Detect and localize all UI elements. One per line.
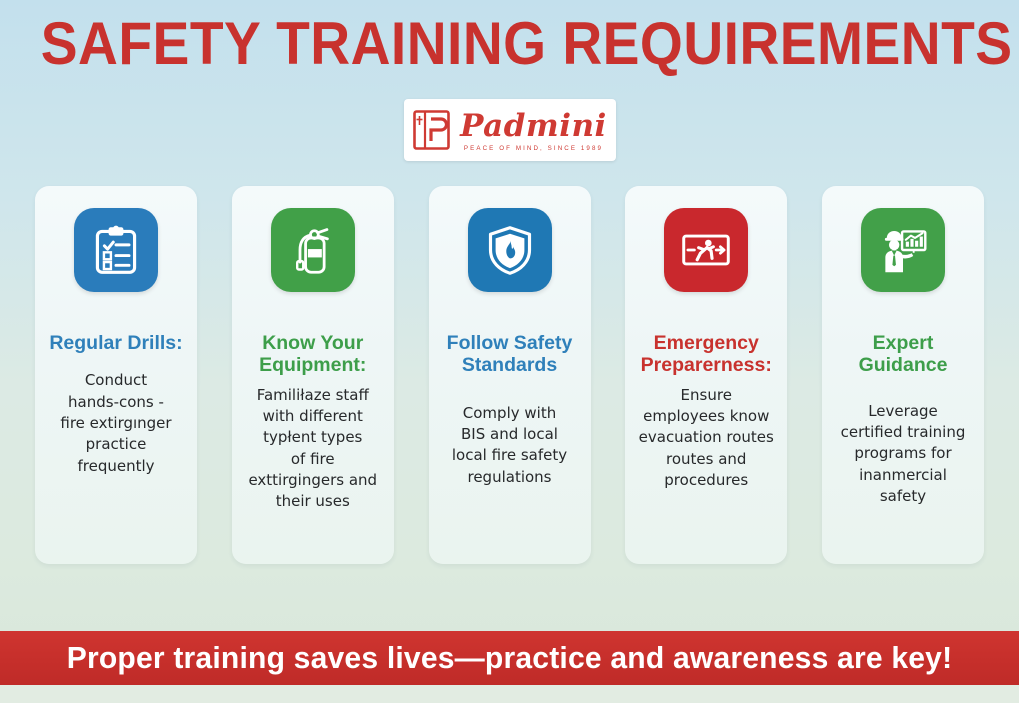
padmini-p-monogram-icon bbox=[413, 109, 451, 151]
fire-extinguisher-icon bbox=[287, 224, 339, 276]
card-title: Regular Drills: bbox=[49, 332, 182, 354]
requirement-card-follow-safety-standards: Follow Safety Standards Comply with BIS … bbox=[429, 186, 591, 564]
icon-tile bbox=[468, 208, 552, 292]
logo-tagline: PEACE OF MIND, SINCE 1989 bbox=[464, 145, 603, 152]
brand-logo: Padmini PEACE OF MIND, SINCE 1989 bbox=[404, 99, 616, 161]
card-body: Comply with BIS and local local fire saf… bbox=[452, 403, 567, 488]
card-body: Leverage certified training programs for… bbox=[841, 401, 966, 507]
shield-flame-icon bbox=[484, 224, 536, 276]
requirement-card-expert-guidance: Expert Guidance Leverage certified train… bbox=[822, 186, 984, 564]
card-body: Familiłaze staff with different typłent … bbox=[248, 385, 377, 513]
icon-tile bbox=[861, 208, 945, 292]
card-body: Conduct hands-cons - fire extirgınger pr… bbox=[60, 370, 171, 476]
card-title: Expert Guidance bbox=[828, 332, 978, 377]
card-title: Emergency Preparerness: bbox=[641, 332, 772, 377]
requirement-card-emergency-preparedness: Emergency Preparerness: Ensure employees… bbox=[625, 186, 787, 564]
card-title: Follow Safety Standards bbox=[447, 332, 573, 377]
card-body: Ensure employees know evacuation routes … bbox=[639, 385, 774, 491]
requirement-card-regular-drills: Regular Drills: Conduct hands-cons - fir… bbox=[35, 186, 197, 564]
icon-tile bbox=[664, 208, 748, 292]
logo-wordmark: Padmini PEACE OF MIND, SINCE 1989 bbox=[460, 111, 607, 152]
icon-tile bbox=[74, 208, 158, 292]
emergency-exit-running-man-icon bbox=[680, 224, 732, 276]
footer-message: Proper training saves lives—practice and… bbox=[67, 640, 953, 676]
clipboard-checklist-icon bbox=[90, 224, 142, 276]
footer-banner: Proper training saves lives—practice and… bbox=[0, 631, 1019, 685]
infographic-poster: SAFETY TRAINING REQUIREMENTS Padmini PEA… bbox=[0, 0, 1019, 703]
trainer-presentation-chart-icon bbox=[877, 224, 929, 276]
logo-brand-name: Padmini bbox=[460, 111, 607, 142]
requirement-card-know-your-equipment: Know Your Equipment: Familiłaze staff wi… bbox=[232, 186, 394, 564]
requirement-card-list: Regular Drills: Conduct hands-cons - fir… bbox=[35, 186, 984, 564]
page-title: SAFETY TRAINING REQUIREMENTS bbox=[41, 12, 978, 75]
card-title: Know Your Equipment: bbox=[259, 332, 366, 377]
icon-tile bbox=[271, 208, 355, 292]
footer-bottom-strip bbox=[0, 685, 1019, 703]
